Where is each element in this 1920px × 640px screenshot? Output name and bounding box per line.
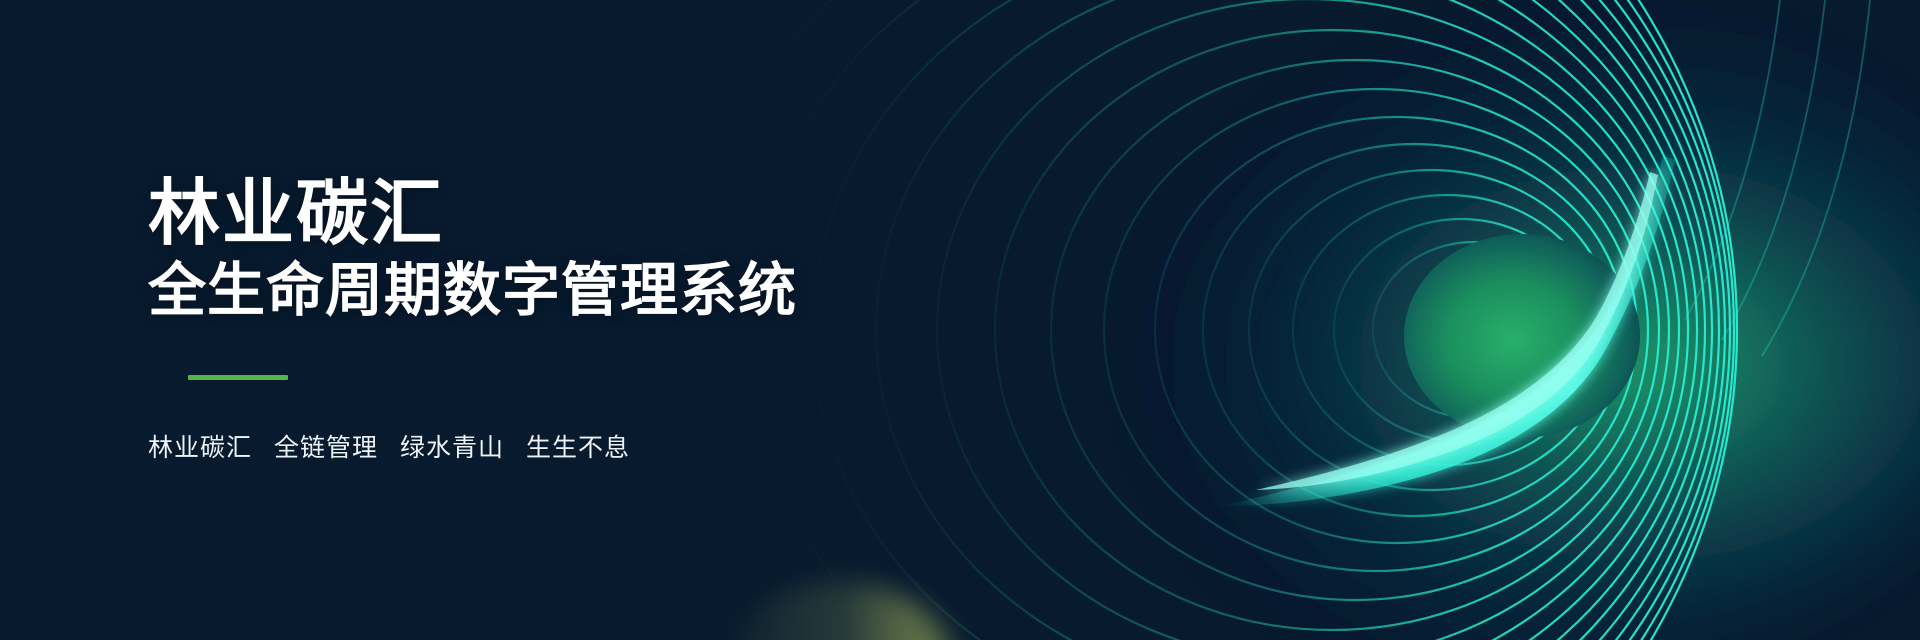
tagline-part-1: 林业碳汇 [148,434,252,462]
hero-banner: 林业碳汇 全生命周期数字管理系统 林业碳汇全链管理绿水青山生生不息 [0,0,1920,640]
tagline: 林业碳汇全链管理绿水青山生生不息 [148,428,1048,464]
tagline-part-4: 生生不息 [526,434,630,462]
page-subtitle: 全生命周期数字管理系统 [148,259,1048,323]
banner-content: 林业碳汇 全生命周期数字管理系统 林业碳汇全链管理绿水青山生生不息 [148,0,1048,640]
accent-divider [188,375,288,380]
tagline-part-3: 绿水青山 [400,434,504,462]
tagline-part-2: 全链管理 [274,434,378,462]
page-title: 林业碳汇 [148,176,1048,252]
